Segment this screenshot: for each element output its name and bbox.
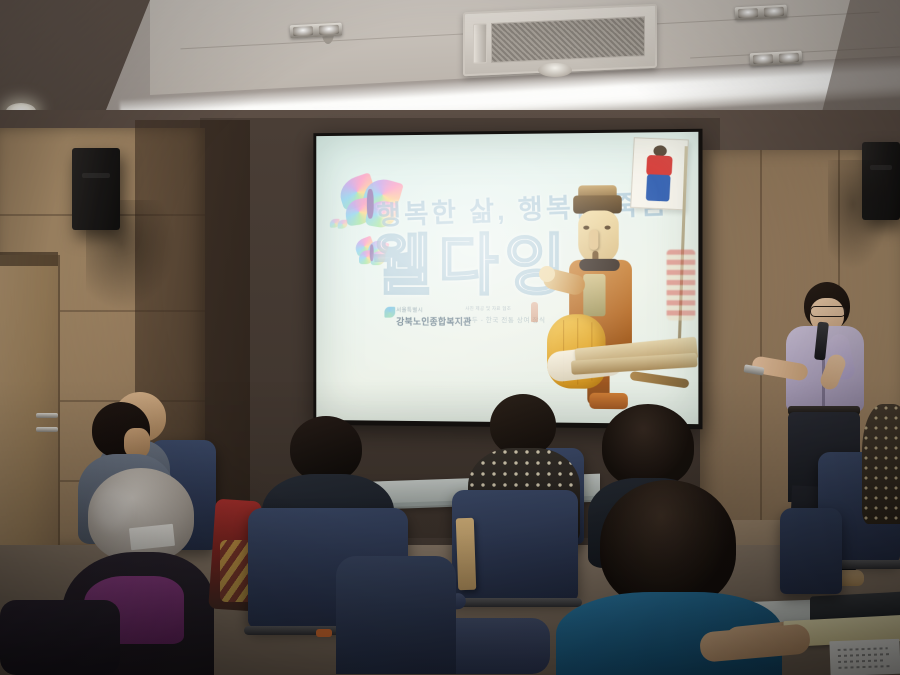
chair-label-tag [316, 629, 332, 637]
ac-vane-icon [473, 23, 487, 64]
door-handle-plate-icon [36, 427, 58, 432]
entrance-door[interactable] [0, 255, 60, 545]
logo-line-2: 강북노인종합복지관 [396, 315, 471, 328]
door-handle-icon[interactable] [36, 413, 58, 418]
logo-line-1: 서울특별시 [396, 306, 471, 314]
attendee-coat [0, 600, 120, 675]
logo-mark-icon [384, 307, 395, 318]
credit-figure-icon [531, 302, 538, 322]
smoke-detector-icon [538, 63, 572, 77]
printed-handout[interactable] [129, 524, 175, 550]
child-drawing-card [630, 137, 689, 210]
attendee-top [862, 404, 900, 524]
door-top-inset [0, 252, 58, 266]
bier-tassel-decoration [667, 250, 696, 321]
ceiling-spotlight [290, 23, 343, 39]
lecture-room-photo: 행복한 삶, 행복한 죽음 웰다잉 [0, 0, 900, 675]
attendee-hair [600, 480, 736, 608]
conference-chair[interactable] [780, 508, 842, 594]
projected-slide: 행복한 삶, 행복한 죽음 웰다잉 [316, 132, 698, 424]
speaker-shadow [828, 160, 890, 270]
organization-logo: 서울특별시 강북노인종합복지관 [396, 306, 471, 328]
projection-screen: 행복한 삶, 행복한 죽음 웰다잉 [313, 129, 702, 430]
wall-mounted-speaker-left [72, 148, 120, 230]
attendee-hair [602, 404, 694, 488]
ceiling-spotlight [735, 5, 788, 21]
attendee-hair [490, 394, 556, 456]
attendee-right-edge [862, 404, 900, 524]
eyeglasses-icon [810, 306, 846, 317]
hair-highlight [94, 486, 130, 530]
ceiling-spotlight [750, 51, 803, 67]
butterfly-icon [330, 219, 347, 233]
wooden-seat-marker [456, 518, 477, 591]
attendee-hair [290, 416, 362, 482]
conference-chair[interactable] [336, 556, 456, 674]
ac-grille-icon [491, 16, 645, 63]
printed-handout[interactable] [829, 639, 900, 675]
